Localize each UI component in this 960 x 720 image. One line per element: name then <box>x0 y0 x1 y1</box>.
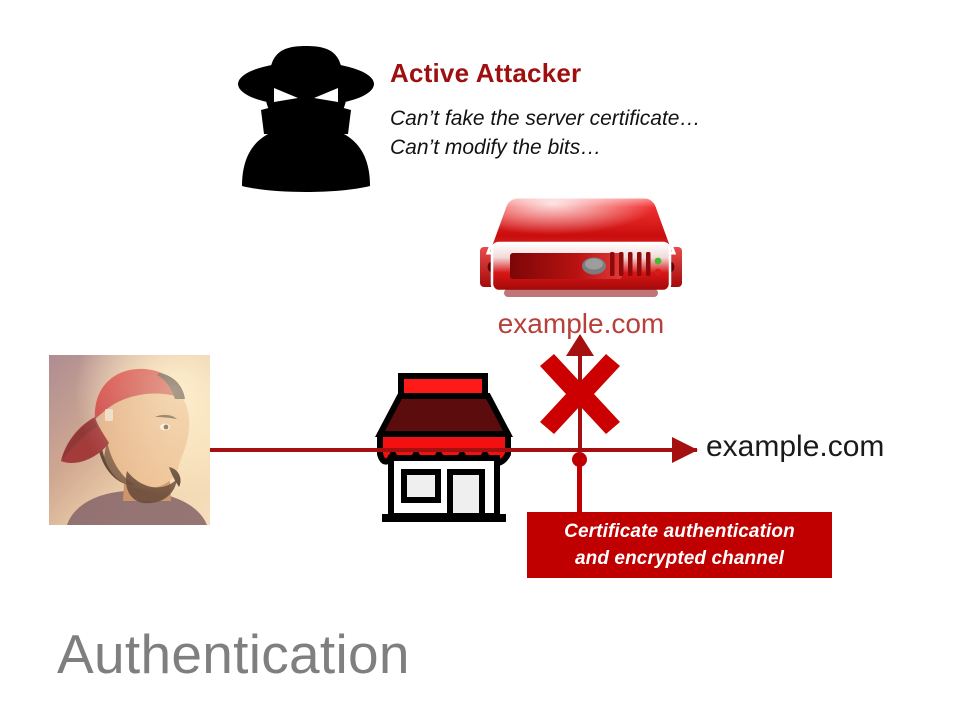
attacker-note-line: Can’t modify the bits… <box>390 133 700 162</box>
rack-server-icon <box>478 193 684 313</box>
spy-hat-silhouette-icon <box>228 36 384 194</box>
client-server-connection-line <box>210 448 697 452</box>
callout-line: and encrypted channel <box>575 545 784 572</box>
arrow-right-icon <box>672 437 698 463</box>
person-photo <box>49 355 210 525</box>
callout-line: Certificate authentication <box>564 518 795 545</box>
page-title: Authentication <box>57 622 410 686</box>
led-green-icon <box>655 258 662 265</box>
attacker-note-line: Can’t fake the server certificate… <box>390 104 700 133</box>
endpoint-domain-label: example.com <box>706 430 884 464</box>
led-red-icon <box>655 269 662 276</box>
slide-canvas: Active Attacker Can’t fake the server ce… <box>0 0 960 720</box>
cross-x-icon <box>536 352 624 436</box>
attacker-title: Active Attacker <box>390 58 581 89</box>
callout-pin-dot-icon <box>572 452 587 467</box>
attacker-notes: Can’t fake the server certificate… Can’t… <box>390 104 700 162</box>
callout-box: Certificate authentication and encrypted… <box>527 512 832 578</box>
